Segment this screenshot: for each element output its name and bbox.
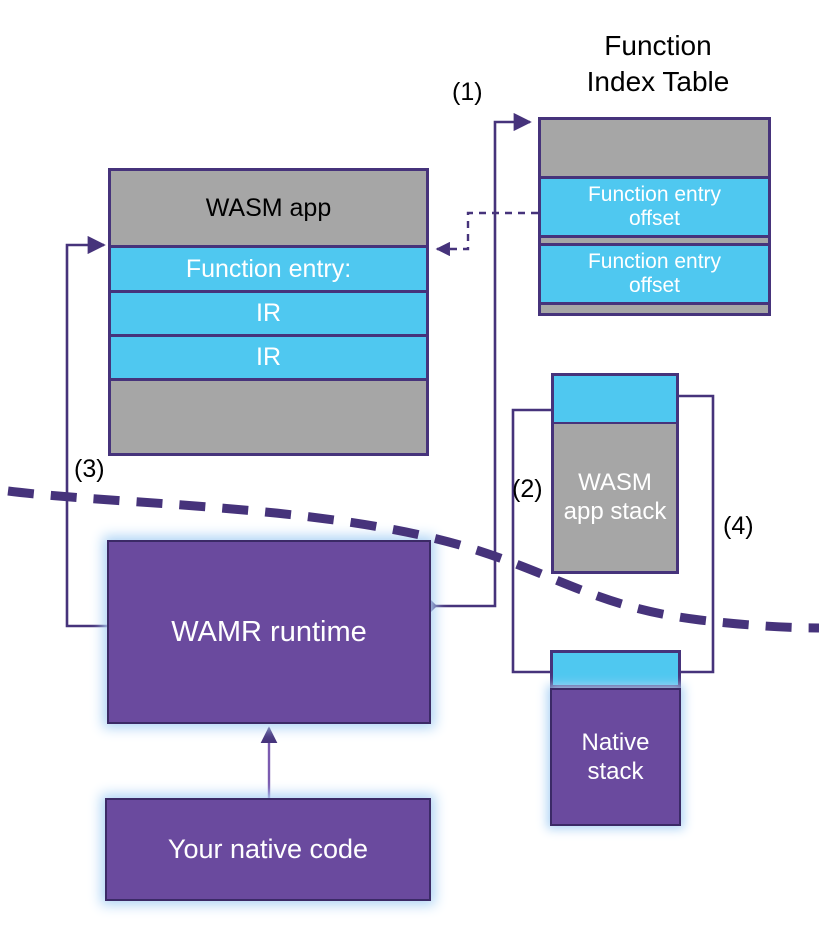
step-label-1: (1) xyxy=(452,78,483,107)
wasm-app-stack-block: WASM app stack xyxy=(551,373,679,574)
step-label-2: (2) xyxy=(512,475,543,504)
native-stack-label: Native stack xyxy=(550,688,681,826)
function-index-table-title-line-2: Index Table xyxy=(530,64,786,100)
step-label-4: (4) xyxy=(723,512,754,541)
native-stack-label-line-1: Native xyxy=(581,729,649,756)
wasm-app-title: WASM app xyxy=(111,171,426,245)
function-index-table-entry-1-line-2: offset xyxy=(629,207,680,230)
function-index-table-entry-2-line-2: offset xyxy=(629,274,680,297)
wasm-app-stack-top-frame xyxy=(554,376,676,424)
function-index-table-title: Function Index Table xyxy=(530,28,786,100)
step-label-3: (3) xyxy=(74,455,105,484)
wasm-app-row-ir-1: IR xyxy=(111,293,426,337)
native-stack-label-line-2: stack xyxy=(587,758,643,785)
function-index-table-header-band xyxy=(541,120,768,176)
wasm-app-row-ir-2: IR xyxy=(111,337,426,381)
function-index-table-entry-2-line-1: Function entry xyxy=(588,250,721,273)
wasm-app-stack-label: WASM app stack xyxy=(554,424,676,571)
wasm-app-stack-label-line-2: app stack xyxy=(564,498,667,525)
function-index-table-entry-1-line-1: Function entry xyxy=(588,183,721,206)
wasm-app-stack-label-line-1: WASM xyxy=(578,469,652,496)
wasm-app-row-filler xyxy=(111,381,426,453)
wamr-runtime-block: WAMR runtime xyxy=(107,540,431,724)
function-index-table-block: Function entry offset Function entry off… xyxy=(538,117,771,316)
native-stack-top-frame xyxy=(550,650,681,688)
function-index-table-title-line-1: Function xyxy=(530,28,786,64)
connector-3-runtime-to-wasm-app xyxy=(67,245,107,626)
wasm-app-row-function-entry: Function entry: xyxy=(111,245,426,293)
function-index-table-footer-band xyxy=(541,305,768,313)
function-index-table-entry-2: Function entry offset xyxy=(541,243,768,305)
wasm-app-block: WASM app Function entry: IR IR xyxy=(108,168,429,456)
function-index-table-entry-1: Function entry offset xyxy=(541,176,768,238)
your-native-code-block: Your native code xyxy=(105,798,431,901)
connector-1-runtime-to-index-table xyxy=(425,122,530,612)
diagram-canvas: WASM app Function entry: IR IR Function … xyxy=(0,0,819,925)
native-stack-block: Native stack xyxy=(550,650,681,826)
